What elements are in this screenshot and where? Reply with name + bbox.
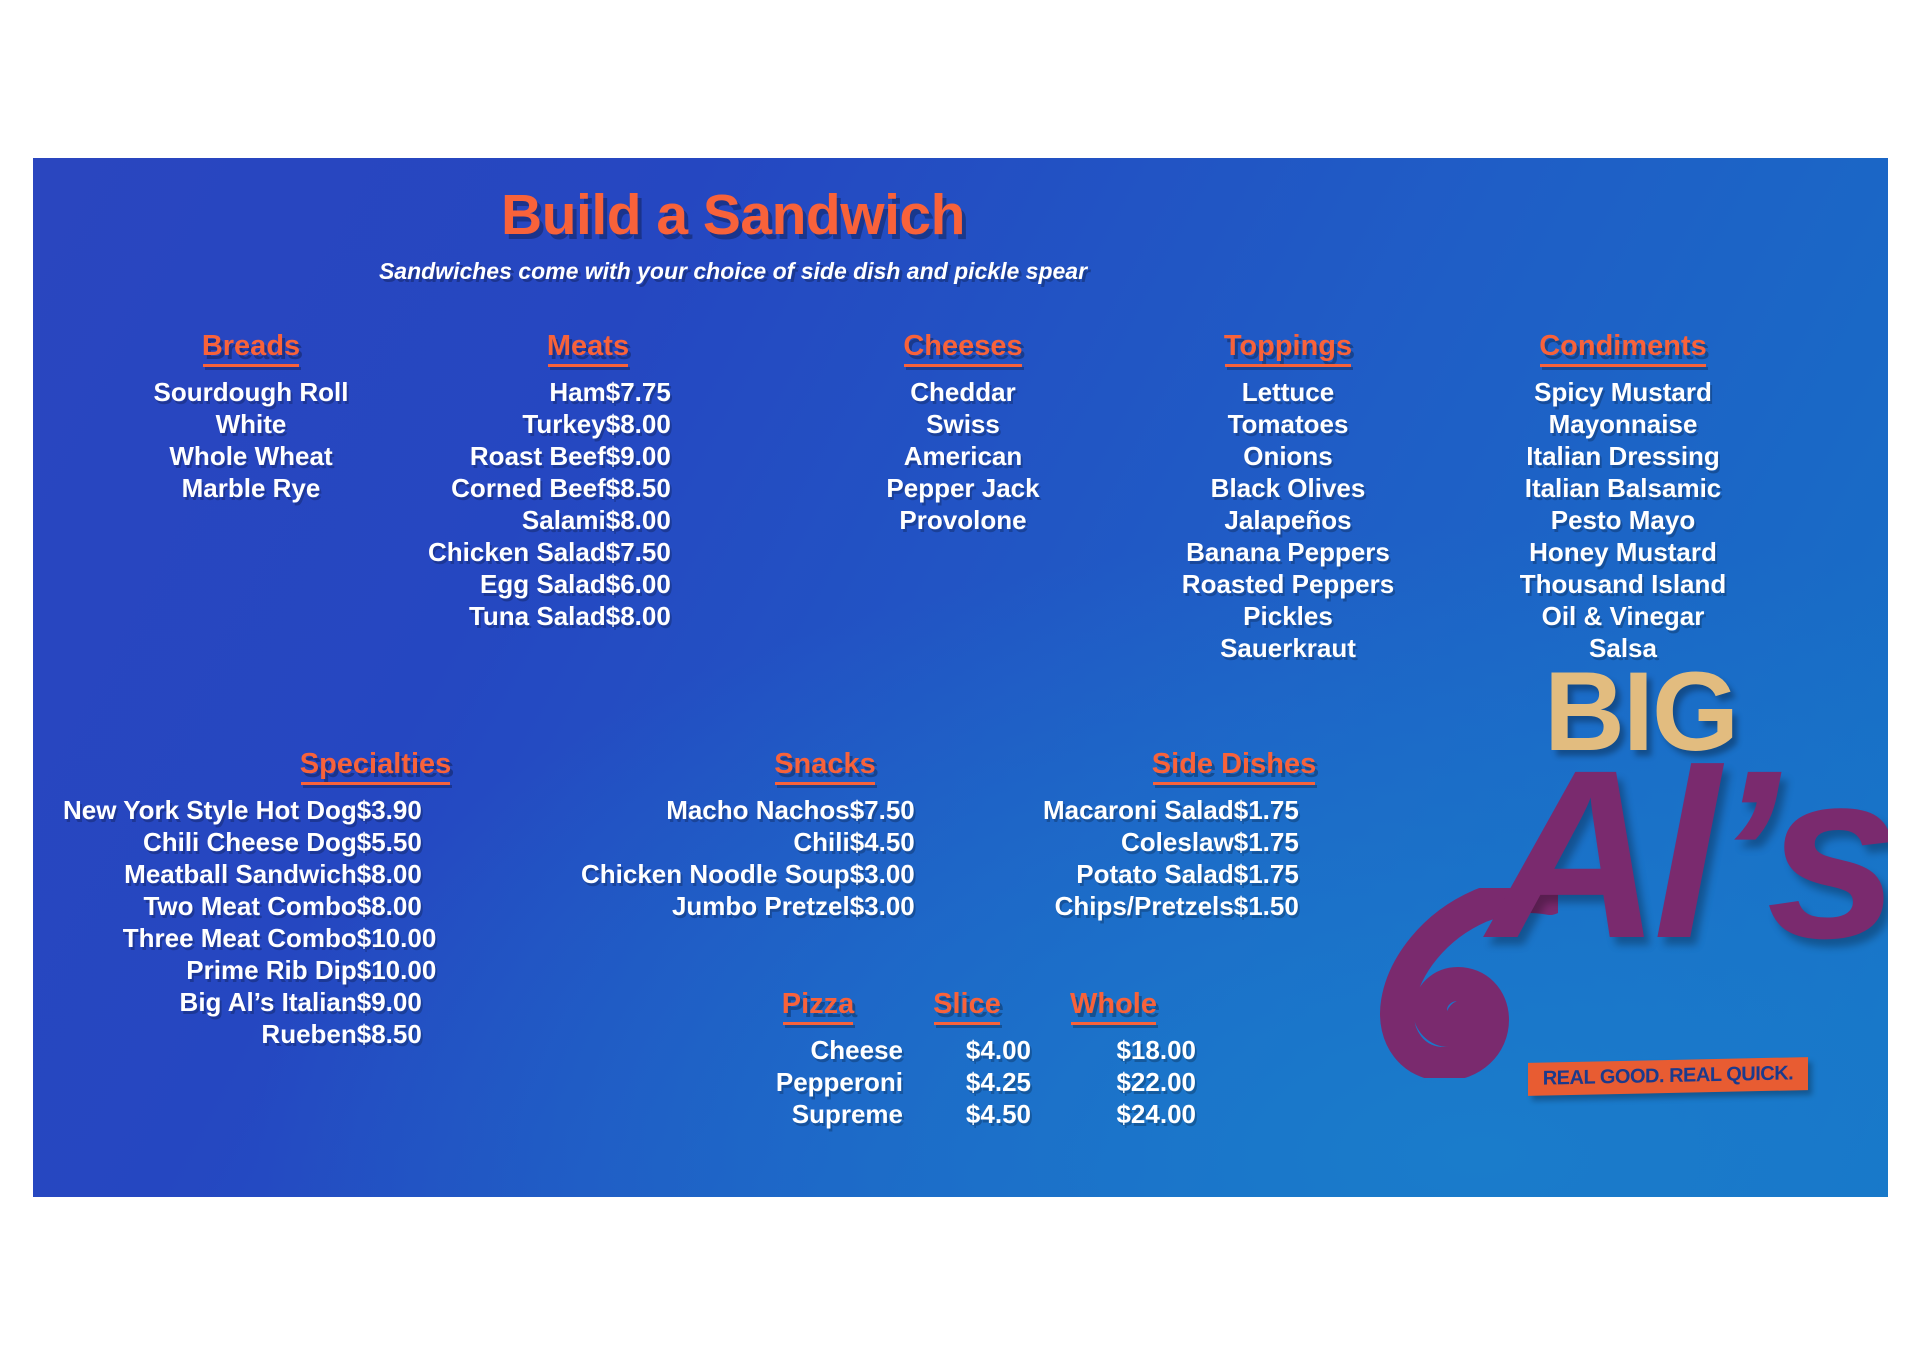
list-item: Pickles [1143,600,1433,632]
slice-heading-wrap: Slice [903,988,1031,1024]
item-name: Potato Salad [1043,858,1234,890]
item-name: Pepperoni [733,1066,903,1098]
list-item: Mayonnaise [1473,408,1773,440]
item-name: Tuna Salad [428,600,606,632]
pizza-heading-wrap: Pizza [733,988,903,1024]
item-price: $3.00 [850,890,915,922]
table-row: Meatball Sandwich $8.00 [63,858,436,890]
section-heading-wrap: Breads [141,330,361,366]
pizza-heading-row: Pizza Slice Whole [733,988,1203,1024]
list-item: Spicy Mustard [1473,376,1773,408]
column-heading-whole: Whole [1070,988,1157,1024]
section-heading-breads: Breads [202,330,300,366]
section-condiments: Condiments Spicy Mustard Mayonnaise Ital… [1473,330,1773,664]
table-row: Macaroni Salad $1.75 [1043,794,1299,826]
table-row: New York Style Hot Dog $3.90 [63,794,436,826]
item-price: $8.00 [357,858,437,890]
item-price: $5.50 [357,826,437,858]
item-name: Salami [428,504,606,536]
item-price: $1.75 [1234,858,1299,890]
table-row: Corned Beef $8.50 [428,472,671,504]
item-name: Egg Salad [428,568,606,600]
table-row: Potato Salad $1.75 [1043,858,1299,890]
item-name: Ham [428,376,606,408]
table-row: Chili $4.50 [581,826,915,858]
list-item: Whole Wheat [141,440,361,472]
list-item: Pesto Mayo [1473,504,1773,536]
section-breads: Breads Sourdough Roll White Whole Wheat … [141,330,361,504]
item-name: Supreme [733,1098,903,1130]
item-price: $8.00 [357,890,437,922]
section-heading-wrap: Cheeses [833,330,1093,366]
item-name: Big Al’s Italian [63,986,357,1018]
table-row: Roast Beef $9.00 [428,440,671,472]
table-row: Supreme $4.50 $24.00 [733,1098,1196,1130]
list-item: Marble Rye [141,472,361,504]
side-dishes-table: Macaroni Salad $1.75 Coleslaw $1.75 Pota… [1043,794,1299,922]
cheeses-list: Cheddar Swiss American Pepper Jack Provo… [833,376,1093,536]
section-toppings: Toppings Lettuce Tomatoes Onions Black O… [1143,330,1433,664]
section-heading-specialties: Specialties [300,748,452,784]
list-item: Pepper Jack [833,472,1093,504]
list-item: American [833,440,1093,472]
meats-table: Ham $7.75 Turkey $8.00 Roast Beef $9.00 … [428,376,671,632]
item-price: $8.00 [606,408,671,440]
item-name: Chicken Salad [428,536,606,568]
item-price-whole: $24.00 [1031,1098,1196,1130]
item-name: Rueben [63,1018,357,1050]
table-row: Prime Rib Dip $10.00 [63,954,436,986]
item-name: Jumbo Pretzel [581,890,850,922]
table-row: Ham $7.75 [428,376,671,408]
table-row: Big Al’s Italian $9.00 [63,986,436,1018]
list-item: White [141,408,361,440]
item-price-whole: $18.00 [1031,1034,1196,1066]
item-price: $6.00 [606,568,671,600]
item-price: $8.00 [606,600,671,632]
table-row: Chips/Pretzels $1.50 [1043,890,1299,922]
table-row: Two Meat Combo $8.00 [63,890,436,922]
pizza-table: Cheese $4.00 $18.00 Pepperoni $4.25 $22.… [733,1034,1196,1130]
list-item: Tomatoes [1143,408,1433,440]
item-price: $8.00 [606,504,671,536]
item-name: Coleslaw [1043,826,1234,858]
list-item: Lettuce [1143,376,1433,408]
toppings-list: Lettuce Tomatoes Onions Black Olives Jal… [1143,376,1433,664]
section-heading-wrap: Toppings [1143,330,1433,366]
item-name: Chili [581,826,850,858]
table-row: Macho Nachos $7.50 [581,794,915,826]
section-specialties: Specialties New York Style Hot Dog $3.90… [63,748,583,1050]
item-name: New York Style Hot Dog [63,794,357,826]
section-heading-cheeses: Cheeses [903,330,1022,366]
item-price: $1.75 [1234,794,1299,826]
page-title: Build a Sandwich [33,182,1433,248]
item-price: $3.00 [850,858,915,890]
section-snacks: Snacks Macho Nachos $7.50 Chili $4.50 Ch… [581,748,1001,922]
item-price: $7.75 [606,376,671,408]
section-heading-wrap: Snacks [581,748,1001,784]
table-row: Jumbo Pretzel $3.00 [581,890,915,922]
whole-heading-wrap: Whole [1031,988,1196,1024]
section-heading-wrap: Meats [428,330,748,366]
item-name: Cheese [733,1034,903,1066]
list-item: Oil & Vinegar [1473,600,1773,632]
item-name: Macaroni Salad [1043,794,1234,826]
list-item: Swiss [833,408,1093,440]
item-price-slice: $4.25 [903,1066,1031,1098]
item-price: $1.50 [1234,890,1299,922]
condiments-list: Spicy Mustard Mayonnaise Italian Dressin… [1473,376,1773,664]
snacks-table: Macho Nachos $7.50 Chili $4.50 Chicken N… [581,794,915,922]
list-item: Provolone [833,504,1093,536]
item-price: $8.50 [606,472,671,504]
item-name: Meatball Sandwich [63,858,357,890]
item-name: Chili Cheese Dog [63,826,357,858]
breads-list: Sourdough Roll White Whole Wheat Marble … [141,376,361,504]
section-heading-wrap: Condiments [1473,330,1773,366]
menu-board: Build a Sandwich Sandwiches come with yo… [33,158,1888,1197]
table-row: Three Meat Combo $10.00 [63,922,436,954]
table-row: Turkey $8.00 [428,408,671,440]
item-name: Turkey [428,408,606,440]
item-name: Chicken Noodle Soup [581,858,850,890]
item-name: Three Meat Combo [63,922,357,954]
column-heading-slice: Slice [933,988,1001,1024]
specialties-table: New York Style Hot Dog $3.90 Chili Chees… [63,794,436,1050]
item-price-slice: $4.00 [903,1034,1031,1066]
item-price-whole: $22.00 [1031,1066,1196,1098]
item-price: $10.00 [357,954,437,986]
table-row: Chili Cheese Dog $5.50 [63,826,436,858]
list-item: Onions [1143,440,1433,472]
section-meats: Meats Ham $7.75 Turkey $8.00 Roast Beef … [428,330,748,632]
big-als-logo: BIG Al’s REAL GOOD. REAL QUICK. [1358,656,1858,1136]
list-item: Jalapeños [1143,504,1433,536]
item-price: $7.50 [850,794,915,826]
logo-tagline-text: REAL GOOD. REAL QUICK. [1528,1057,1808,1096]
logo-word-als: Al’s [1488,734,1888,974]
section-heading-side-dishes: Side Dishes [1152,748,1316,784]
item-price: $9.00 [606,440,671,472]
list-item: Honey Mustard [1473,536,1773,568]
table-row: Egg Salad $6.00 [428,568,671,600]
section-heading-wrap: Specialties [63,748,583,784]
section-heading-condiments: Condiments [1539,330,1707,366]
table-row: Cheese $4.00 $18.00 [733,1034,1196,1066]
list-item: Black Olives [1143,472,1433,504]
list-item: Cheddar [833,376,1093,408]
item-price: $1.75 [1234,826,1299,858]
section-heading-pizza: Pizza [782,988,855,1024]
item-price: $10.00 [357,922,437,954]
item-price: $3.90 [357,794,437,826]
list-item: Sourdough Roll [141,376,361,408]
table-row: Salami $8.00 [428,504,671,536]
section-pizza: Pizza Slice Whole Cheese $4.00 $18.00 Pe… [733,988,1203,1130]
table-row: Tuna Salad $8.00 [428,600,671,632]
item-name: Chips/Pretzels [1043,890,1234,922]
table-row: Pepperoni $4.25 $22.00 [733,1066,1196,1098]
item-name: Two Meat Combo [63,890,357,922]
section-heading-snacks: Snacks [774,748,876,784]
table-row: Coleslaw $1.75 [1043,826,1299,858]
section-heading-meats: Meats [547,330,629,366]
item-name: Macho Nachos [581,794,850,826]
list-item: Italian Dressing [1473,440,1773,472]
item-price: $4.50 [850,826,915,858]
table-row: Chicken Noodle Soup $3.00 [581,858,915,890]
list-item: Banana Peppers [1143,536,1433,568]
list-item: Italian Balsamic [1473,472,1773,504]
table-row: Chicken Salad $7.50 [428,536,671,568]
list-item: Roasted Peppers [1143,568,1433,600]
item-name: Prime Rib Dip [63,954,357,986]
item-price: $7.50 [606,536,671,568]
list-item: Thousand Island [1473,568,1773,600]
section-heading-toppings: Toppings [1224,330,1352,366]
item-name: Roast Beef [428,440,606,472]
item-price-slice: $4.50 [903,1098,1031,1130]
section-cheeses: Cheeses Cheddar Swiss American Pepper Ja… [833,330,1093,536]
item-price: $8.50 [357,1018,437,1050]
item-name: Corned Beef [428,472,606,504]
logo-tagline-banner: REAL GOOD. REAL QUICK. [1528,1057,1808,1096]
page-subtitle: Sandwiches come with your choice of side… [33,258,1433,285]
item-price: $9.00 [357,986,437,1018]
table-row: Rueben $8.50 [63,1018,436,1050]
